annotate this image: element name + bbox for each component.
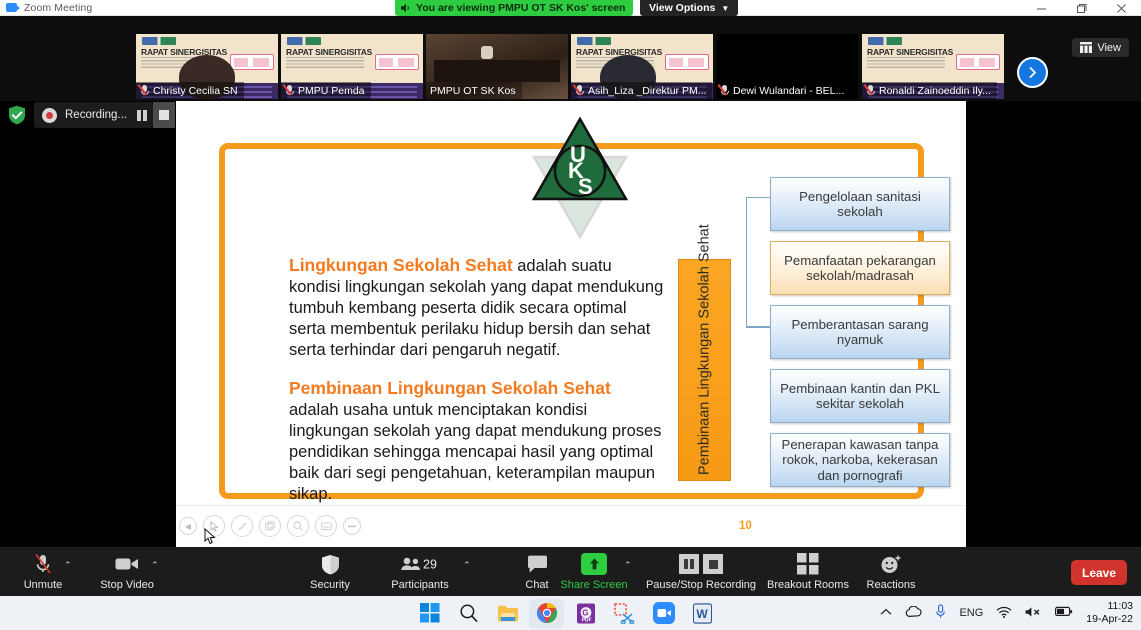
participant-name-label: PMPU Pemda bbox=[281, 82, 371, 99]
pause-stop-icon bbox=[679, 552, 723, 576]
page-number: 10 bbox=[739, 520, 752, 532]
participant-thumbnail[interactable]: RAPAT SINERGISITAS Christy Cecilia SN bbox=[136, 34, 278, 99]
system-tray: ENG 11:03 19-Apr-22 bbox=[880, 596, 1133, 630]
paragraph-1-highlight: Lingkungan Sekolah Sehat bbox=[289, 255, 513, 275]
chat-label: Chat bbox=[525, 579, 548, 591]
poster-illustration bbox=[375, 54, 419, 70]
word-icon[interactable]: W bbox=[691, 602, 714, 625]
search-icon[interactable] bbox=[457, 602, 480, 625]
flow-root-text: Pembinaan Lingkungan Sekolah Sehat bbox=[696, 265, 713, 475]
video-camera-icon bbox=[115, 552, 139, 576]
share-screen-label: Share Screen bbox=[560, 579, 627, 591]
participant-thumbnail[interactable]: RAPAT SINERGISITAS Ronaldi Zainoeddin Il… bbox=[862, 34, 1004, 99]
microphone-muted-icon bbox=[720, 85, 729, 97]
stamp-icon[interactable] bbox=[259, 515, 281, 537]
shared-screen-area: Lingkungan Sekolah Sehat adalah suatu ko… bbox=[176, 101, 966, 547]
stop-icon bbox=[159, 110, 169, 120]
stop-video-button[interactable]: Stop Video bbox=[84, 552, 170, 591]
poster-title: RAPAT SINERGISITAS bbox=[286, 47, 372, 57]
mouse-cursor bbox=[204, 528, 216, 550]
poster-subtitle-lines bbox=[867, 57, 945, 69]
microphone-muted-icon bbox=[140, 85, 149, 97]
leave-button[interactable]: Leave bbox=[1071, 560, 1127, 585]
people-icon: 29 bbox=[400, 552, 440, 576]
snipping-tool-icon[interactable] bbox=[613, 602, 636, 625]
stop-recording-button[interactable] bbox=[153, 102, 175, 128]
poster-logo-icon bbox=[868, 37, 902, 45]
clock-date: 19-Apr-22 bbox=[1086, 613, 1133, 626]
unmute-label: Unmute bbox=[24, 579, 63, 591]
recording-indicator-bar: Recording... bbox=[0, 101, 175, 129]
poster-logo-icon bbox=[577, 37, 611, 45]
pause-icon[interactable] bbox=[679, 554, 699, 574]
stop-video-label: Stop Video bbox=[100, 579, 154, 591]
more-icon[interactable]: ••• bbox=[343, 517, 361, 535]
presentation-slide: Lingkungan Sekolah Sehat adalah suatu ko… bbox=[176, 101, 966, 505]
shield-icon bbox=[321, 552, 340, 576]
flow-connector bbox=[746, 197, 770, 327]
stop-icon[interactable] bbox=[703, 554, 723, 574]
svg-text:S: S bbox=[578, 174, 593, 199]
text-box-icon[interactable] bbox=[315, 515, 337, 537]
shield-check-icon[interactable] bbox=[8, 105, 26, 125]
share-screen-button[interactable]: Share Screen bbox=[551, 552, 637, 591]
flow-box-3: Pemberantasan sarang nyamuk bbox=[770, 305, 950, 359]
poster-logo-icon bbox=[287, 37, 321, 45]
svg-text:PDF: PDF bbox=[581, 617, 591, 623]
zoom-meeting-window: Zoom Meeting RAPAT SINERGISITAS bbox=[0, 0, 1141, 630]
participant-name-label: Asih_Liza _Direktur PM... bbox=[571, 82, 712, 99]
participant-name-label: PMPU OT SK Kos bbox=[426, 82, 522, 99]
poster-title: RAPAT SINERGISITAS bbox=[867, 47, 953, 57]
svg-text:W: W bbox=[696, 607, 708, 621]
room-person bbox=[481, 46, 493, 59]
flow-box-5: Penerapan kawasan tanpa rokok, narkoba, … bbox=[770, 433, 950, 487]
microphone-muted-icon bbox=[575, 85, 584, 97]
pen-icon[interactable] bbox=[231, 515, 253, 537]
chat-bubble-icon bbox=[527, 552, 548, 576]
grid-squares-icon bbox=[797, 552, 819, 576]
participant-name-label: Christy Cecilia SN bbox=[136, 82, 244, 99]
view-options-button[interactable]: View Options ▼ bbox=[640, 0, 738, 16]
cloud-icon[interactable] bbox=[905, 606, 922, 621]
participant-thumbnail[interactable]: RAPAT SINERGISITAS Asih_Liza _Direktur P… bbox=[571, 34, 713, 99]
restore-icon[interactable] bbox=[1061, 0, 1101, 16]
windows-taskbar: GPDF W bbox=[0, 596, 1141, 630]
slide-paragraph-2: Pembinaan Lingkungan Sekolah Sehat adala… bbox=[289, 377, 664, 505]
participants-label: Participants bbox=[391, 579, 448, 591]
window-title: Zoom Meeting bbox=[24, 2, 92, 14]
taskbar-icons: GPDF W bbox=[418, 596, 714, 630]
speaker-muted-icon[interactable] bbox=[1025, 606, 1042, 621]
viewing-text: You are viewing PMPU OT SK Kos' screen bbox=[416, 2, 625, 14]
view-layout-button[interactable]: View bbox=[1072, 38, 1129, 57]
share-up-arrow-icon bbox=[581, 552, 607, 576]
start-icon[interactable] bbox=[418, 602, 441, 625]
chrome-icon[interactable] bbox=[535, 602, 558, 625]
audio-options-caret[interactable]: ⌃ bbox=[64, 560, 72, 571]
recording-label: Recording... bbox=[65, 109, 127, 121]
participant-thumbnail[interactable]: Dewi Wulandari - BEL... bbox=[716, 34, 858, 99]
video-options-caret[interactable]: ⌃ bbox=[151, 560, 159, 571]
window-controls bbox=[1021, 0, 1141, 16]
speaker-icon bbox=[401, 3, 412, 13]
zoom-icon[interactable] bbox=[287, 515, 309, 537]
zoom-icon[interactable] bbox=[652, 602, 675, 625]
zoom-camera-icon bbox=[6, 3, 17, 12]
paragraph-2-rest: adalah usaha untuk menciptakan kondisi l… bbox=[289, 401, 661, 503]
slide-body-text: Lingkungan Sekolah Sehat adalah suatu ko… bbox=[289, 254, 664, 504]
pause-stop-recording-label: Pause/Stop Recording bbox=[646, 579, 756, 591]
chevron-right-icon bbox=[1026, 66, 1039, 79]
zoom-control-toolbar: Unmute ⌃ Stop Video ⌃ Security 29 bbox=[0, 547, 1141, 596]
uks-logo-reflection bbox=[530, 201, 630, 241]
record-dot-icon bbox=[42, 108, 57, 123]
taskbar-clock[interactable]: 11:03 19-Apr-22 bbox=[1086, 600, 1133, 626]
unmute-button[interactable]: Unmute bbox=[0, 552, 86, 591]
pause-stop-recording-button[interactable]: Pause/Stop Recording bbox=[655, 552, 747, 591]
language-indicator[interactable]: ENG bbox=[959, 607, 983, 619]
security-label: Security bbox=[310, 579, 350, 591]
close-icon[interactable] bbox=[1101, 0, 1141, 16]
poster-logo-icon bbox=[142, 37, 176, 45]
participant-name-label: Ronaldi Zainoeddin Ily... bbox=[862, 82, 997, 99]
smiley-plus-icon bbox=[880, 552, 902, 576]
microphone-muted-icon bbox=[866, 85, 875, 97]
reactions-label: Reactions bbox=[867, 579, 916, 591]
flow-box-4: Pembinaan kantin dan PKL sekitar sekolah bbox=[770, 369, 950, 423]
microphone-muted-icon bbox=[33, 552, 53, 576]
flow-connector bbox=[746, 327, 770, 431]
grid-view-icon bbox=[1080, 42, 1092, 53]
share-options-caret[interactable]: ⌃ bbox=[624, 560, 632, 571]
participant-filmstrip: RAPAT SINERGISITAS Christy Cecilia SN RA… bbox=[0, 16, 1141, 101]
breakout-rooms-label: Breakout Rooms bbox=[767, 579, 849, 591]
participant-thumbnail-active[interactable]: PMPU OT SK Kos bbox=[426, 34, 568, 99]
poster-illustration bbox=[665, 54, 709, 70]
battery-icon[interactable] bbox=[1055, 606, 1073, 620]
flow-box-2: Pemanfaatan pekarangan sekolah/madrasah bbox=[770, 241, 950, 295]
room-table bbox=[434, 60, 560, 82]
pause-recording-button[interactable] bbox=[137, 110, 147, 121]
slide-viewer-toolbar: ◀ ••• 10 bbox=[176, 505, 966, 547]
poster-subtitle-lines bbox=[286, 57, 364, 69]
viewing-screen-banner: You are viewing PMPU OT SK Kos' screen bbox=[395, 0, 633, 16]
chevron-down-icon: ▼ bbox=[721, 4, 729, 13]
next-participants-button[interactable] bbox=[1017, 57, 1048, 88]
wifi-icon[interactable] bbox=[996, 606, 1012, 621]
chevron-up-icon[interactable] bbox=[880, 607, 892, 619]
pdf-app-icon[interactable]: GPDF bbox=[574, 602, 597, 625]
flow-root-label: Pembinaan Lingkungan Sekolah Sehat bbox=[678, 259, 731, 481]
clock-time: 11:03 bbox=[1086, 600, 1133, 613]
reactions-button[interactable]: Reactions bbox=[848, 552, 934, 591]
minimize-icon[interactable] bbox=[1021, 0, 1061, 16]
flow-box-1: Pengelolaan sanitasi sekolah bbox=[770, 177, 950, 231]
previous-icon[interactable]: ◀ bbox=[179, 517, 197, 535]
participants-options-caret[interactable]: ⌃ bbox=[463, 560, 471, 571]
poster-illustration bbox=[956, 54, 1000, 70]
slide-paragraph-1: Lingkungan Sekolah Sehat adalah suatu ko… bbox=[289, 254, 664, 361]
recording-panel: Recording... bbox=[34, 102, 153, 128]
security-button[interactable]: Security bbox=[287, 552, 373, 591]
svg-text:G: G bbox=[582, 608, 588, 617]
microphone-muted-icon bbox=[285, 85, 294, 97]
participant-count: 29 bbox=[423, 557, 437, 571]
poster-illustration bbox=[230, 54, 274, 70]
paragraph-2-highlight: Pembinaan Lingkungan Sekolah Sehat bbox=[289, 378, 611, 398]
participant-thumbnail[interactable]: RAPAT SINERGISITAS PMPU Pemda bbox=[281, 34, 423, 99]
file-explorer-icon[interactable] bbox=[496, 602, 519, 625]
participant-name-label: Dewi Wulandari - BEL... bbox=[716, 82, 850, 99]
view-label: View bbox=[1097, 42, 1121, 54]
uks-logo: U K S bbox=[530, 115, 630, 203]
participants-button[interactable]: 29 Participants bbox=[377, 552, 463, 591]
breakout-rooms-button[interactable]: Breakout Rooms bbox=[765, 552, 851, 591]
microphone-icon[interactable] bbox=[935, 604, 946, 622]
view-options-label: View Options bbox=[649, 2, 715, 14]
